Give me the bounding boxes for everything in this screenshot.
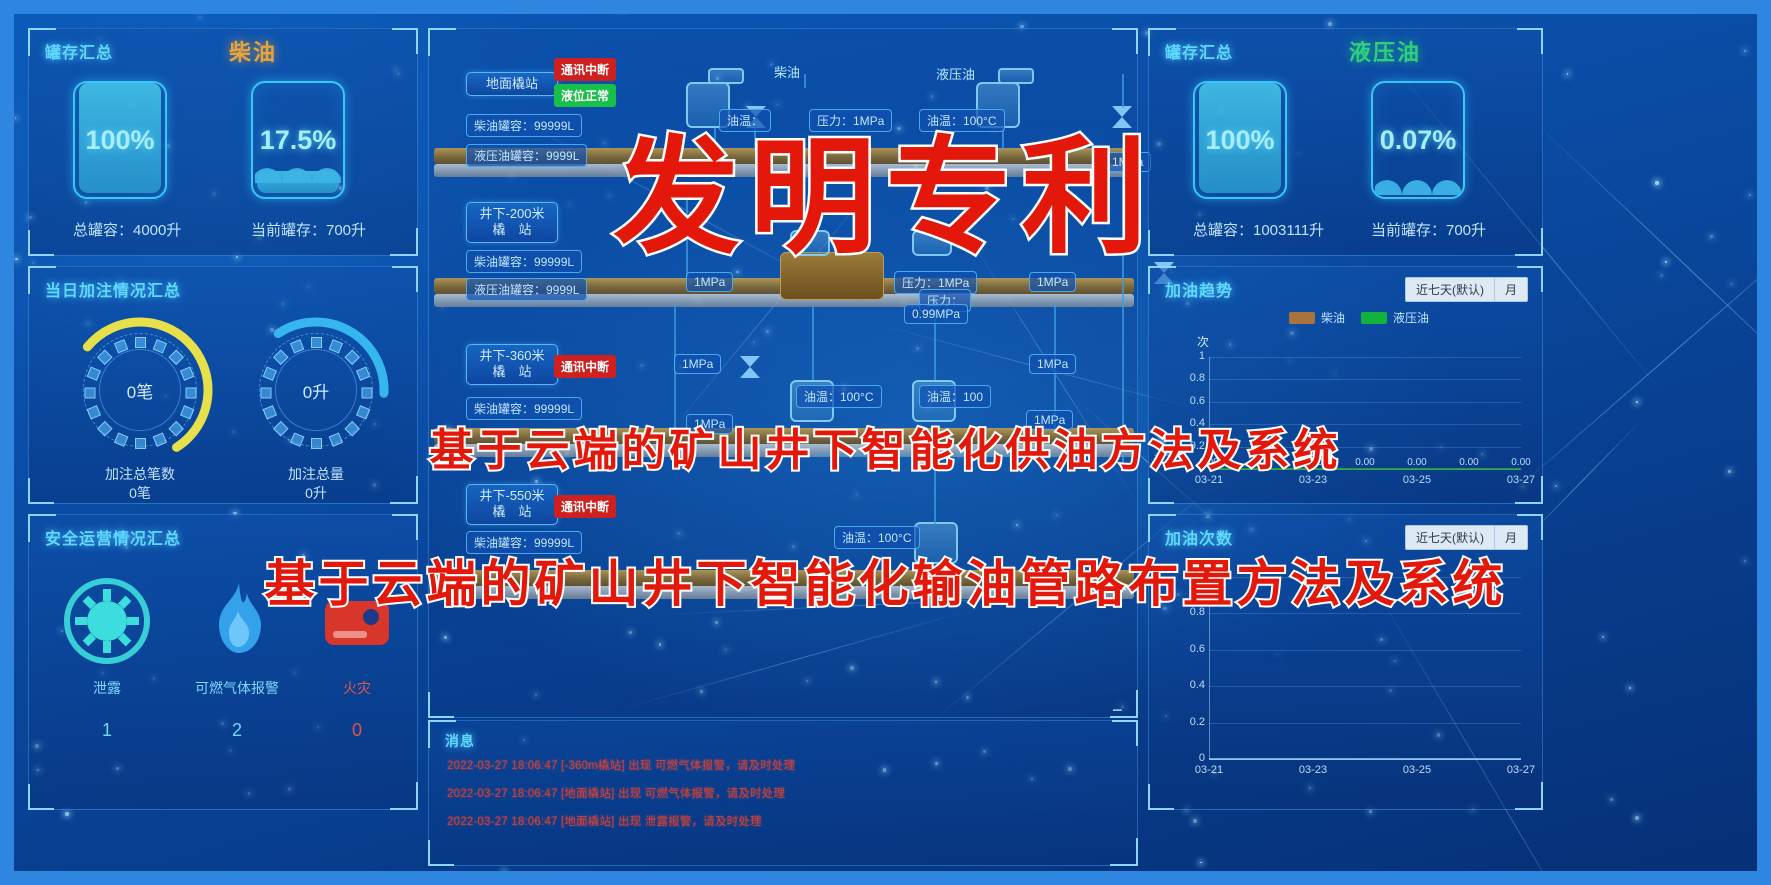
panel-subtitle-diesel: 柴油 [229, 35, 277, 67]
tank-caption: 当前罐存：700升 [1371, 219, 1486, 240]
safety-count: 1 [47, 720, 167, 741]
legend-swatch-hydraulic [1361, 312, 1387, 324]
watermark-line2: 基于云端的矿山井下智能化输油管路布置方法及系统 [265, 544, 1507, 616]
station-tag-360m[interactable]: 井下-360米橇 站 [466, 344, 558, 385]
panel-title-messages: 消息 [445, 731, 475, 751]
chip-200m-diesel: 柴油罐容：99999L [466, 250, 582, 273]
gauge-tick [260, 388, 271, 399]
minimize-icon[interactable]: − [1112, 700, 1123, 721]
panel-title-right-stock: 罐存汇总 [1165, 39, 1233, 63]
readout-chip: 油温：100 [919, 385, 991, 408]
chip-surface-hydraulic: 液压油罐容：9999L [466, 144, 587, 167]
safety-label: 泄露 [47, 678, 167, 698]
station-tag-200m-label: 井下-200米橇 站 [479, 206, 544, 237]
tank-gauge-total: 100% [1193, 81, 1287, 199]
dashboard-root: 罐存汇总 柴油 100% 总罐容：4000升 17.5% 当前罐存：700升 [0, 0, 1771, 885]
chart-point-label: 0.00 [1403, 457, 1431, 468]
badge-550m-comm: 通讯中断 [554, 495, 616, 518]
tank-left-current: 17.5% 当前罐存：700升 [251, 81, 366, 240]
legend-swatch-diesel [1289, 312, 1315, 324]
tank-percent-value: 0.07% [1373, 83, 1463, 197]
gauge-center-value: 0升 [275, 349, 357, 431]
dashboard-stage: 罐存汇总 柴油 100% 总罐容：4000升 17.5% 当前罐存：700升 [14, 14, 1757, 871]
gauge-volume-label: 加注总量0升 [241, 465, 391, 503]
vessel-cap-diesel [708, 68, 744, 84]
tank-right-total: 100% 总罐容：1003111升 [1193, 81, 1324, 240]
gauge-tick [84, 388, 95, 399]
gauge-tick [361, 388, 372, 399]
readout-chip: 1MPa [674, 354, 721, 374]
panel-title-refuel: 当日加注情况汇总 [45, 277, 181, 301]
gauge-tick [179, 366, 193, 380]
gauge-tick [86, 366, 100, 380]
chart-point-label: 0.00 [1351, 457, 1379, 468]
safety-item-leak: 泄露 1 [47, 575, 167, 741]
tank-gauge-total: 100% [73, 81, 167, 199]
panel-left-refuel: 当日加注情况汇总 0笔 加注总笔数0笔 0升 加注总量0升 [28, 266, 418, 504]
readout-chip: 油温：100°C [796, 385, 882, 408]
panel-left-stock: 罐存汇总 柴油 100% 总罐容：4000升 17.5% 当前罐存：700升 [28, 28, 418, 256]
label-center-diesel: 柴油 [774, 62, 800, 81]
station-tag-360m-label: 井下-360米橇 站 [479, 348, 544, 379]
chart-x-tick: 03-25 [1397, 764, 1437, 776]
badge-surface-level: 液位正常 [554, 84, 616, 107]
legend-label-hydraulic: 液压油 [1393, 309, 1429, 326]
panel-right-stock: 罐存汇总 液压油 100% 总罐容：1003111升 0.07% 当前罐存：70… [1148, 28, 1543, 256]
safety-label: 火灾 [297, 678, 417, 698]
gauge-count-label: 加注总笔数0笔 [65, 465, 215, 503]
readout-chip: 0.99MPa [904, 304, 968, 324]
tank-caption: 总罐容：1003111升 [1193, 219, 1324, 240]
gauge-tick [311, 438, 322, 449]
tank-gauge-current: 0.07% [1371, 81, 1465, 199]
tank-percent-value: 17.5% [253, 83, 343, 197]
panel-title-left-stock: 罐存汇总 [45, 39, 113, 63]
chart-x-tick: 03-23 [1293, 764, 1333, 776]
label-center-hydraulic: 液压油 [936, 64, 975, 83]
safety-count: 2 [177, 720, 297, 741]
gauge-refuel-count: 0笔 [65, 315, 215, 465]
tank-percent-value: 100% [75, 83, 165, 197]
trend-y-unit: 次 [1197, 333, 1209, 350]
legend-item-diesel[interactable]: 柴油 [1289, 309, 1345, 326]
watermark-title: 发明专利 [614, 96, 1158, 278]
chart-x-tick: 03-25 [1397, 474, 1437, 486]
message-line: 2022-03-27 18:06:47 [地面橇站] 出现 泄露报警，请及时处理 [447, 813, 1125, 829]
chip-surface-diesel: 柴油罐容：99999L [466, 114, 582, 137]
trend-range-week[interactable]: 近七天(默认) [1406, 278, 1494, 301]
vessel-cap-hydraulic [998, 68, 1034, 84]
gauge-tick [355, 366, 369, 380]
tank-gauge-current: 17.5% [251, 81, 345, 199]
trend-range-toggle[interactable]: 近七天(默认) 月 [1405, 277, 1528, 302]
wire-1 [804, 74, 806, 88]
station-tag-200m[interactable]: 井下-200米橇 站 [466, 202, 558, 243]
legend-item-hydraulic[interactable]: 液压油 [1361, 309, 1429, 326]
station-tag-550m-label: 井下-550米橇 站 [479, 488, 544, 519]
panel-messages: 消息 2022-03-27 18:06:47 [-360m橇站] 出现 可燃气体… [428, 720, 1138, 866]
tank-right-current: 0.07% 当前罐存：700升 [1371, 81, 1486, 240]
tank-caption: 总罐容：4000升 [73, 219, 181, 240]
safety-label: 可燃气体报警 [177, 678, 297, 698]
station-tag-surface[interactable]: 地面橇站 [466, 72, 558, 96]
tank-percent-value: 100% [1195, 83, 1285, 197]
message-list[interactable]: 2022-03-27 18:06:47 [-360m橇站] 出现 可燃气体报警，… [447, 757, 1125, 841]
chart-x-tick: 03-21 [1189, 764, 1229, 776]
legend-label-diesel: 柴油 [1321, 309, 1345, 326]
badge-360m-comm: 通讯中断 [554, 355, 616, 378]
chart-x-tick: 03-27 [1501, 474, 1541, 486]
safety-count: 0 [297, 720, 417, 741]
gauge-tick [185, 388, 196, 399]
chart-x-tick: 03-27 [1501, 764, 1541, 776]
tank-left-total: 100% 总罐容：4000升 [73, 81, 181, 240]
message-line: 2022-03-27 18:06:47 [地面橇站] 出现 可燃气体报警，请及时… [447, 785, 1125, 801]
gauge-refuel-volume: 0升 [241, 315, 391, 465]
badge-surface-comm: 通讯中断 [554, 58, 616, 81]
gauge-tick [262, 366, 276, 380]
chip-200m-hydraulic: 液压油罐容：9999L [466, 278, 587, 301]
watermark-line1: 基于云端的矿山井下智能化供油方法及系统 [430, 414, 1342, 478]
panel-subtitle-hydraulic: 液压油 [1349, 35, 1421, 67]
chart-point-label: 0.00 [1455, 457, 1483, 468]
wire-10 [812, 306, 814, 380]
gauge-tick [135, 337, 146, 348]
gauge-tick [311, 337, 322, 348]
gauge-center-value: 0笔 [99, 349, 181, 431]
gauge-tick [135, 438, 146, 449]
panel-title-trend: 加油趋势 [1165, 277, 1233, 301]
trend-legend: 柴油 液压油 [1289, 309, 1429, 326]
chart-point-label: 0.00 [1507, 457, 1535, 468]
station-tag-550m[interactable]: 井下-550米橇 站 [466, 484, 558, 525]
valve-icon-3 [740, 356, 760, 383]
message-line: 2022-03-27 18:06:47 [-360m橇站] 出现 可燃气体报警，… [447, 757, 1125, 773]
readout-chip: 1MPa [1029, 354, 1076, 374]
gear-icon [61, 575, 153, 667]
tank-caption: 当前罐存：700升 [251, 219, 366, 240]
trend-range-month[interactable]: 月 [1494, 278, 1527, 301]
panel-title-safety: 安全运营情况汇总 [45, 525, 181, 549]
